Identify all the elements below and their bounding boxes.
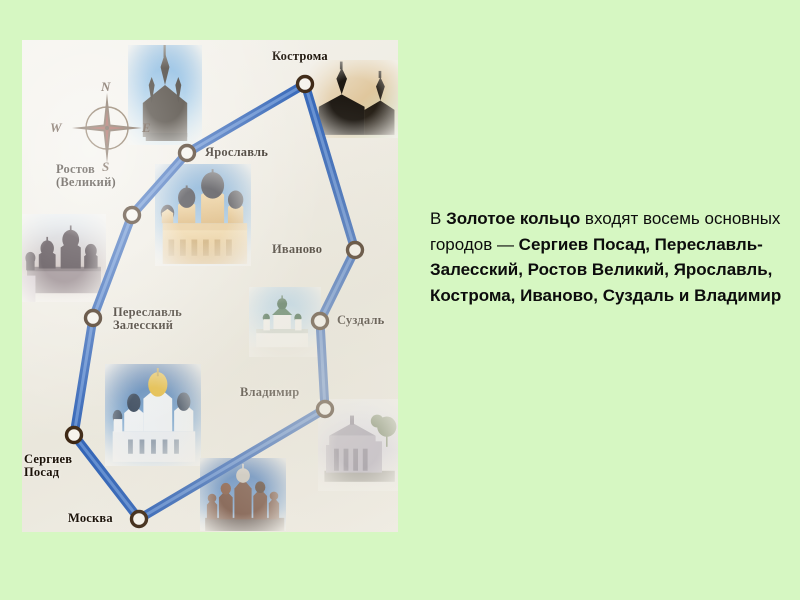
map-node-pereslavl[interactable] [86,311,101,326]
map-node-ivanovo[interactable] [348,243,363,258]
golden-ring-map: N S W E КостромаЯрославльРостов (Великий… [22,40,398,532]
node-ring-moskva [132,512,147,527]
text-golden-ring-term: Золотое кольцо [446,209,580,228]
compass-rose: N S W E [64,85,150,171]
node-ring-pereslavl [86,311,101,326]
city-label-vladimir: Владимир [240,386,299,399]
map-node-moskva[interactable] [132,512,147,527]
city-label-suzdal: Суздаль [337,314,384,327]
city-label-yaroslavl: Ярославль [205,146,268,159]
slide-canvas: N S W E КостромаЯрославльРостов (Великий… [0,0,800,600]
node-ring-suzdal [313,314,328,329]
city-label-pereslavl: Переславль Залесский [113,306,182,332]
city-label-sergiev: Сергиев Посад [24,453,72,479]
map-node-kostroma[interactable] [298,77,313,92]
map-node-rostov[interactable] [125,208,140,223]
map-node-vladimir[interactable] [318,402,333,417]
map-node-suzdal[interactable] [313,314,328,329]
node-ring-rostov [125,208,140,223]
node-ring-yaroslavl [180,146,195,161]
description-paragraph: В Золотое кольцо входят восемь основных … [430,206,782,308]
compass-east-label: E [142,120,151,136]
node-ring-ivanovo [348,243,363,258]
compass-west-label: W [50,120,62,136]
city-label-rostov: Ростов (Великий) [56,163,116,189]
node-ring-kostroma [298,77,313,92]
node-ring-vladimir [318,402,333,417]
map-node-sergiev[interactable] [67,428,82,443]
city-label-ivanovo: Иваново [272,243,322,256]
node-ring-sergiev [67,428,82,443]
city-label-moskva: Москва [68,512,113,525]
map-node-yaroslavl[interactable] [180,146,195,161]
compass-north-label: N [101,79,110,95]
city-label-kostroma: Кострома [272,50,328,63]
text-lead: В [430,209,446,228]
